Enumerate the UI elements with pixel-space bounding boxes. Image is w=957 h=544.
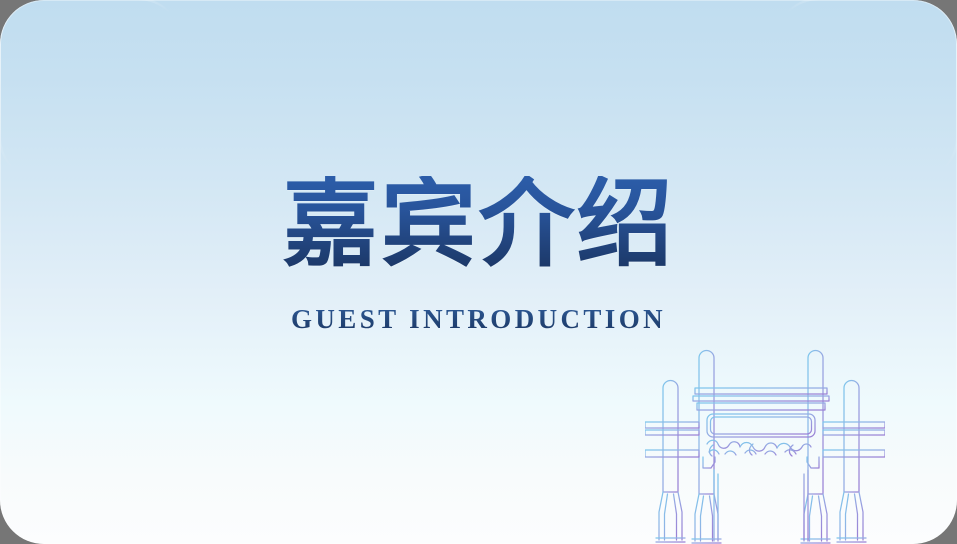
corner-highlight-top-left — [0, 0, 181, 180]
corner-highlight-top-right — [776, 0, 957, 180]
paifang-archway-illustration — [645, 344, 885, 544]
slide-canvas: 嘉宾介绍 GUEST INTRODUCTION — [0, 0, 957, 544]
title-block: 嘉宾介绍 GUEST INTRODUCTION — [0, 176, 957, 335]
slide-root: 嘉宾介绍 GUEST INTRODUCTION — [0, 0, 957, 544]
page-subtitle: GUEST INTRODUCTION — [0, 304, 957, 335]
archway-icon — [645, 344, 885, 544]
page-title: 嘉宾介绍 — [0, 176, 957, 274]
